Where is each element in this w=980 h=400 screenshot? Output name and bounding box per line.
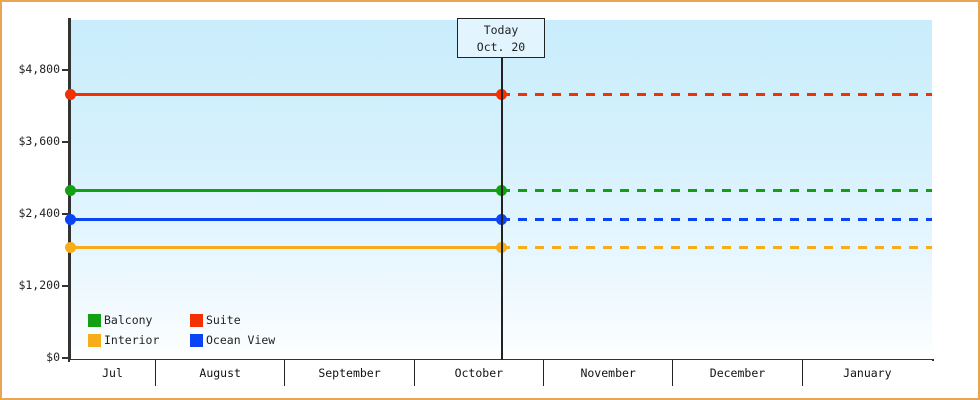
y-tick-4800 [62, 69, 71, 71]
series-line-solid-suite [70, 93, 501, 96]
series-line-dashed-interior [501, 246, 932, 249]
legend-label-interior: Interior [104, 333, 159, 347]
y-axis-label-0: $0 [2, 350, 60, 364]
y-tick-3600 [62, 141, 71, 143]
today-date: Oct. 20 [458, 39, 544, 56]
series-marker-suite-start[interactable] [65, 89, 76, 100]
series-marker-balcony-start[interactable] [65, 185, 76, 196]
legend-swatch-suite [190, 314, 203, 327]
month-cell-october[interactable]: October [415, 360, 544, 386]
month-cell-december[interactable]: December [673, 360, 802, 386]
legend-swatch-balcony [88, 314, 101, 327]
legend-swatch-interior [88, 334, 101, 347]
y-tick-1200 [62, 285, 71, 287]
month-cell-january[interactable]: January [803, 360, 932, 386]
series-line-dashed-suite [501, 93, 932, 96]
month-cell-jul[interactable]: Jul [70, 360, 156, 386]
month-axis-table: JulAugustSeptemberOctoberNovemberDecembe… [70, 360, 932, 386]
month-cell-november[interactable]: November [544, 360, 673, 386]
series-line-dashed-ocean-view [501, 218, 932, 221]
legend-item-suite[interactable]: Suite [190, 313, 241, 327]
today-label: Today [458, 22, 544, 39]
series-line-solid-balcony [70, 189, 501, 192]
y-tick-0 [62, 357, 71, 359]
series-marker-interior-start[interactable] [65, 242, 76, 253]
legend-label-balcony: Balcony [104, 313, 152, 327]
series-marker-ocean-view-start[interactable] [65, 214, 76, 225]
y-axis-label-1200: $1,200 [2, 278, 60, 292]
legend-item-balcony[interactable]: Balcony [88, 313, 190, 327]
y-axis-label-2400: $2,400 [2, 206, 60, 220]
chart-legend: Balcony Suite Interior Ocean View [88, 310, 275, 350]
y-axis-label-3600: $3,600 [2, 134, 60, 148]
legend-label-suite: Suite [206, 313, 241, 327]
series-line-solid-interior [70, 246, 501, 249]
legend-row-1: Balcony Suite [88, 310, 275, 330]
legend-swatch-ocean-view [190, 334, 203, 347]
legend-row-2: Interior Ocean View [88, 330, 275, 350]
month-cell-september[interactable]: September [285, 360, 414, 386]
today-annotation-box: Today Oct. 20 [457, 18, 545, 58]
legend-item-interior[interactable]: Interior [88, 333, 190, 347]
legend-item-ocean-view[interactable]: Ocean View [190, 333, 275, 347]
series-line-solid-ocean-view [70, 218, 501, 221]
today-marker-line [501, 20, 503, 360]
legend-label-ocean-view: Ocean View [206, 333, 275, 347]
y-axis-label-4800: $4,800 [2, 62, 60, 76]
month-cell-august[interactable]: August [156, 360, 285, 386]
series-line-dashed-balcony [501, 189, 932, 192]
